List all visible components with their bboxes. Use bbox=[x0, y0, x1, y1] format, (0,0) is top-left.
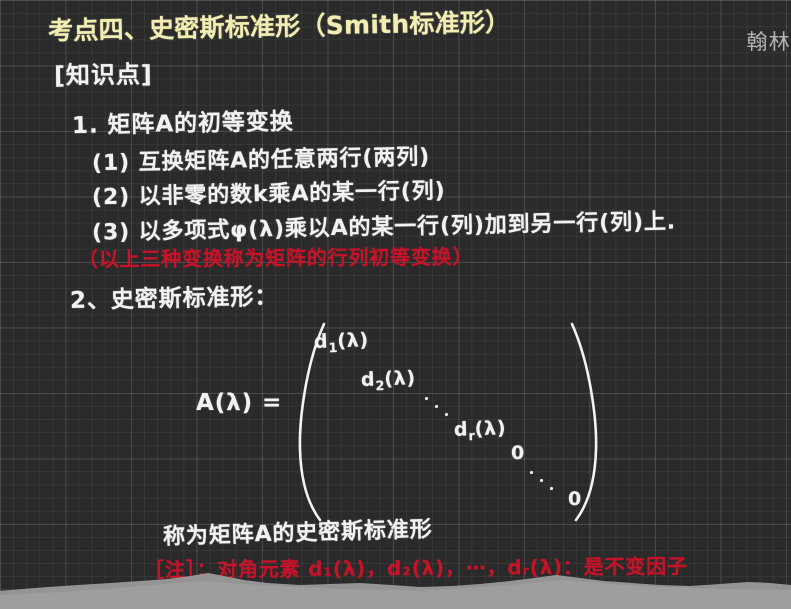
matrix-entry-d1-arg: (λ) bbox=[337, 329, 369, 352]
smith-normal-form-matrix: A(λ) = d1(λ) d2(λ) dr(λ) 0 0 bbox=[196, 322, 626, 527]
matrix-caption: 称为矩阵A的史密斯标准形 bbox=[163, 519, 433, 549]
item-1-subitem-2: (2) 以非零的数k乘A的某一行(列) bbox=[92, 181, 446, 210]
matrix-entry-zero-2: 0 bbox=[568, 490, 582, 509]
matrix-entry-dr-base: d bbox=[454, 418, 469, 440]
page-title: 考点四、史密斯标准形（Smith标准形） bbox=[48, 10, 511, 44]
matrix-entry-dr: dr(λ) bbox=[454, 419, 507, 445]
matrix-entry-d1: d1(λ) bbox=[314, 331, 370, 357]
item-1-label: 1. 矩阵A的初等变换 bbox=[72, 111, 294, 138]
matrix-entry-d2-base: d bbox=[361, 368, 376, 390]
item-2-red-note: ［注］：对角元素 d₁(λ)，d₂(λ)，⋯，dᵣ(λ)：是不变因子 bbox=[144, 556, 688, 580]
handwritten-notes-canvas: 翰林 考点四、史密斯标准形（Smith标准形） [知识点] 1. 矩阵A的初等变… bbox=[0, 0, 791, 609]
item-1-subitem-1: (1) 互换矩阵A的任意两行(两列) bbox=[92, 147, 430, 175]
matrix-entry-d2: d2(λ) bbox=[361, 369, 417, 395]
item-2-label: 2、史密斯标准形： bbox=[70, 286, 279, 313]
matrix-lhs-label: A(λ) = bbox=[196, 392, 282, 415]
knowledge-heading: [知识点] bbox=[54, 62, 153, 87]
item-1-red-note: （以上三种变换称为矩阵的行列初等变换） bbox=[78, 247, 473, 270]
matrix-diagonal-dots-2 bbox=[529, 468, 563, 499]
matrix-entry-d2-arg: (λ) bbox=[384, 367, 416, 390]
matrix-entry-d1-base: d bbox=[314, 330, 329, 352]
matrix-entry-zero-1: 0 bbox=[511, 444, 525, 463]
watermark-text: 翰林 bbox=[746, 26, 791, 56]
item-1-subitem-3: (3) 以多项式φ(λ)乘以A的某一行(列)加到另一行(列)上. bbox=[92, 211, 676, 244]
matrix-entry-dr-arg: (λ) bbox=[474, 417, 506, 440]
